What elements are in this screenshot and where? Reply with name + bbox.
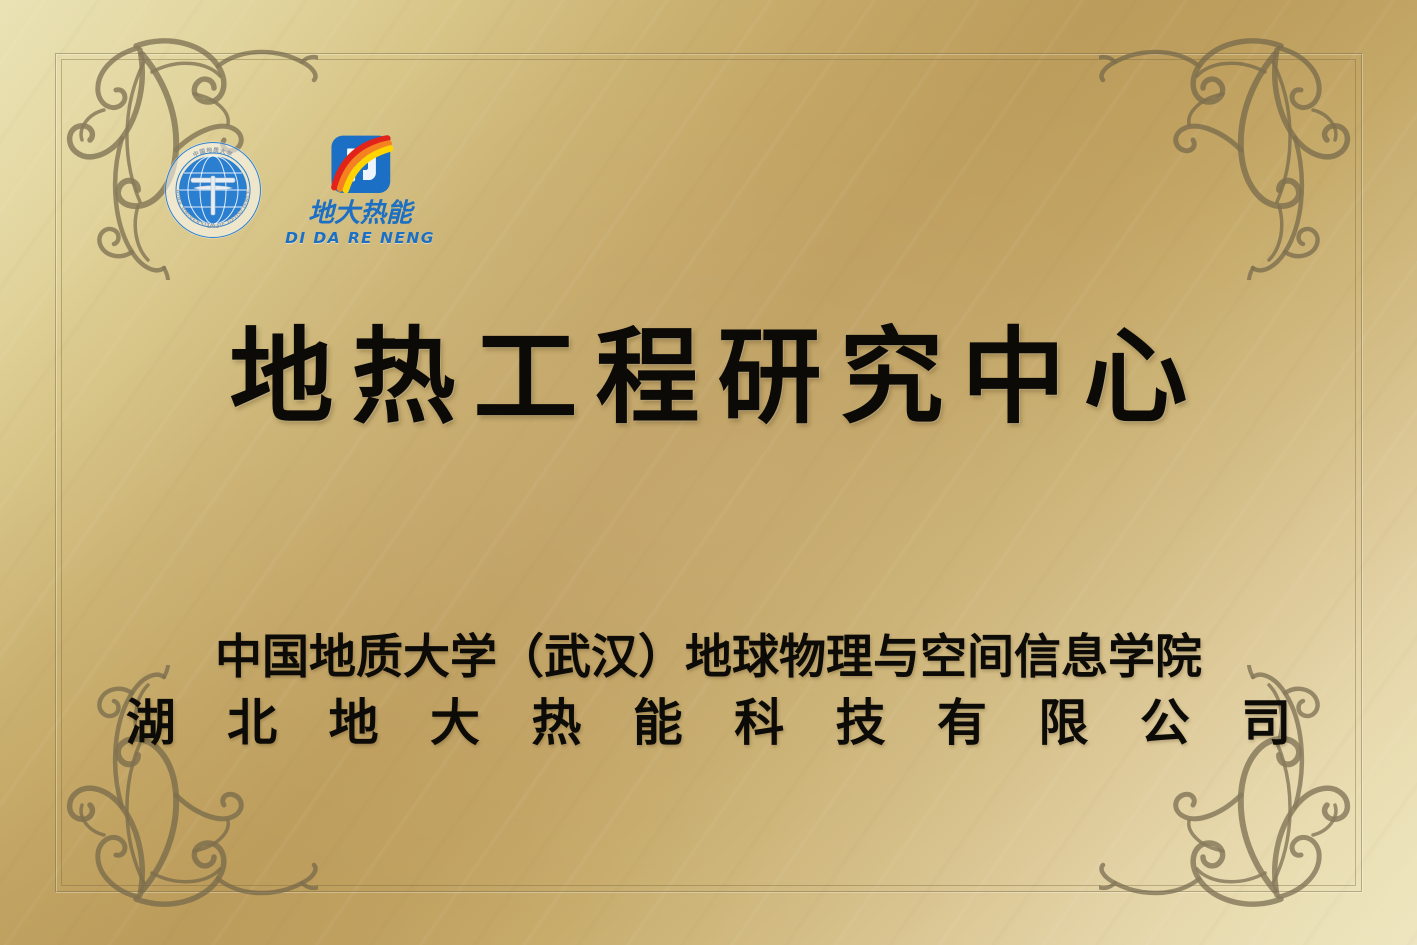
corner-flourish-top-right-icon — [1099, 10, 1399, 280]
didareneng-wordmark-cn: 地大热能 — [285, 194, 435, 230]
company-logo-block: 地大热能 DI DA RE NENG — [285, 134, 435, 247]
award-plaque: 中国地质大学 CHINA UNIVERSITY OF GEOSCIENCES 1… — [0, 0, 1417, 945]
page-title: 地热工程研究中心 — [0, 322, 1417, 431]
organization-block: 中国地质大学（武汉）地球物理与空间信息学院 湖 北 地 大 热 能 科 技 有 … — [0, 630, 1417, 754]
svg-text:地大热能: 地大热能 — [308, 199, 415, 229]
cug-seal-logo-icon: 中国地质大学 CHINA UNIVERSITY OF GEOSCIENCES 1… — [163, 140, 263, 240]
cug-year-text: 1952 — [207, 224, 220, 230]
didareneng-wordmark-pinyin: DI DA RE NENG — [285, 231, 435, 247]
organization-line-university: 中国地质大学（武汉）地球物理与空间信息学院 — [0, 630, 1417, 685]
didareneng-mark-icon — [320, 134, 406, 196]
logo-row: 中国地质大学 CHINA UNIVERSITY OF GEOSCIENCES 1… — [163, 134, 435, 247]
organization-line-company: 湖 北 地 大 热 能 科 技 有 限 公 司 — [0, 693, 1417, 754]
